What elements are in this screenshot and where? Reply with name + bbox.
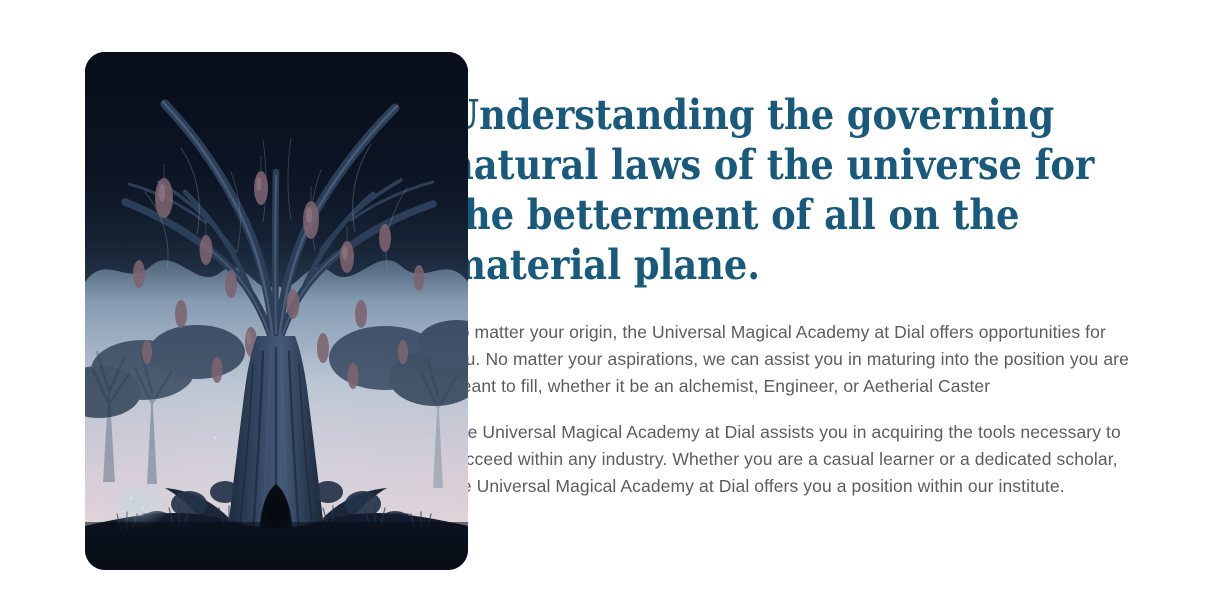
glow-orb [103, 480, 171, 528]
hero-image-card [85, 52, 468, 570]
paragraph-2: The Universal Magical Academy at Dial as… [447, 419, 1129, 499]
text-column: Understanding the governing natural laws… [447, 36, 1129, 500]
media-column [45, 36, 428, 586]
paragraph-1: No matter your origin, the Universal Mag… [447, 319, 1129, 399]
body-copy: No matter your origin, the Universal Mag… [447, 319, 1129, 500]
great-tree-illustration [85, 52, 468, 570]
hero-section: Understanding the governing natural laws… [0, 0, 1224, 590]
page-title: Understanding the governing natural laws… [447, 90, 1119, 290]
page-root: Understanding the governing natural laws… [0, 0, 1224, 590]
